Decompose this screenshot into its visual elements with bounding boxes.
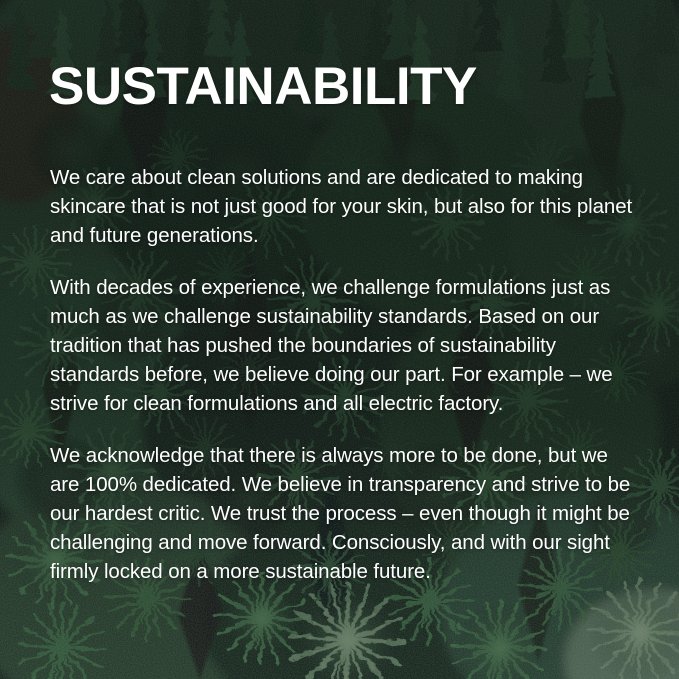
body-copy: We care about clean solutions and are de… xyxy=(50,163,634,586)
sustainability-banner: SUSTAINABILITY We care about clean solut… xyxy=(0,0,679,679)
page-title: SUSTAINABILITY xyxy=(49,58,477,116)
text-content-layer: SUSTAINABILITY We care about clean solut… xyxy=(0,0,679,679)
paragraph-2: With decades of experience, we challenge… xyxy=(50,273,634,418)
paragraph-3: We acknowledge that there is always more… xyxy=(50,441,634,586)
paragraph-1: We care about clean solutions and are de… xyxy=(50,163,634,250)
